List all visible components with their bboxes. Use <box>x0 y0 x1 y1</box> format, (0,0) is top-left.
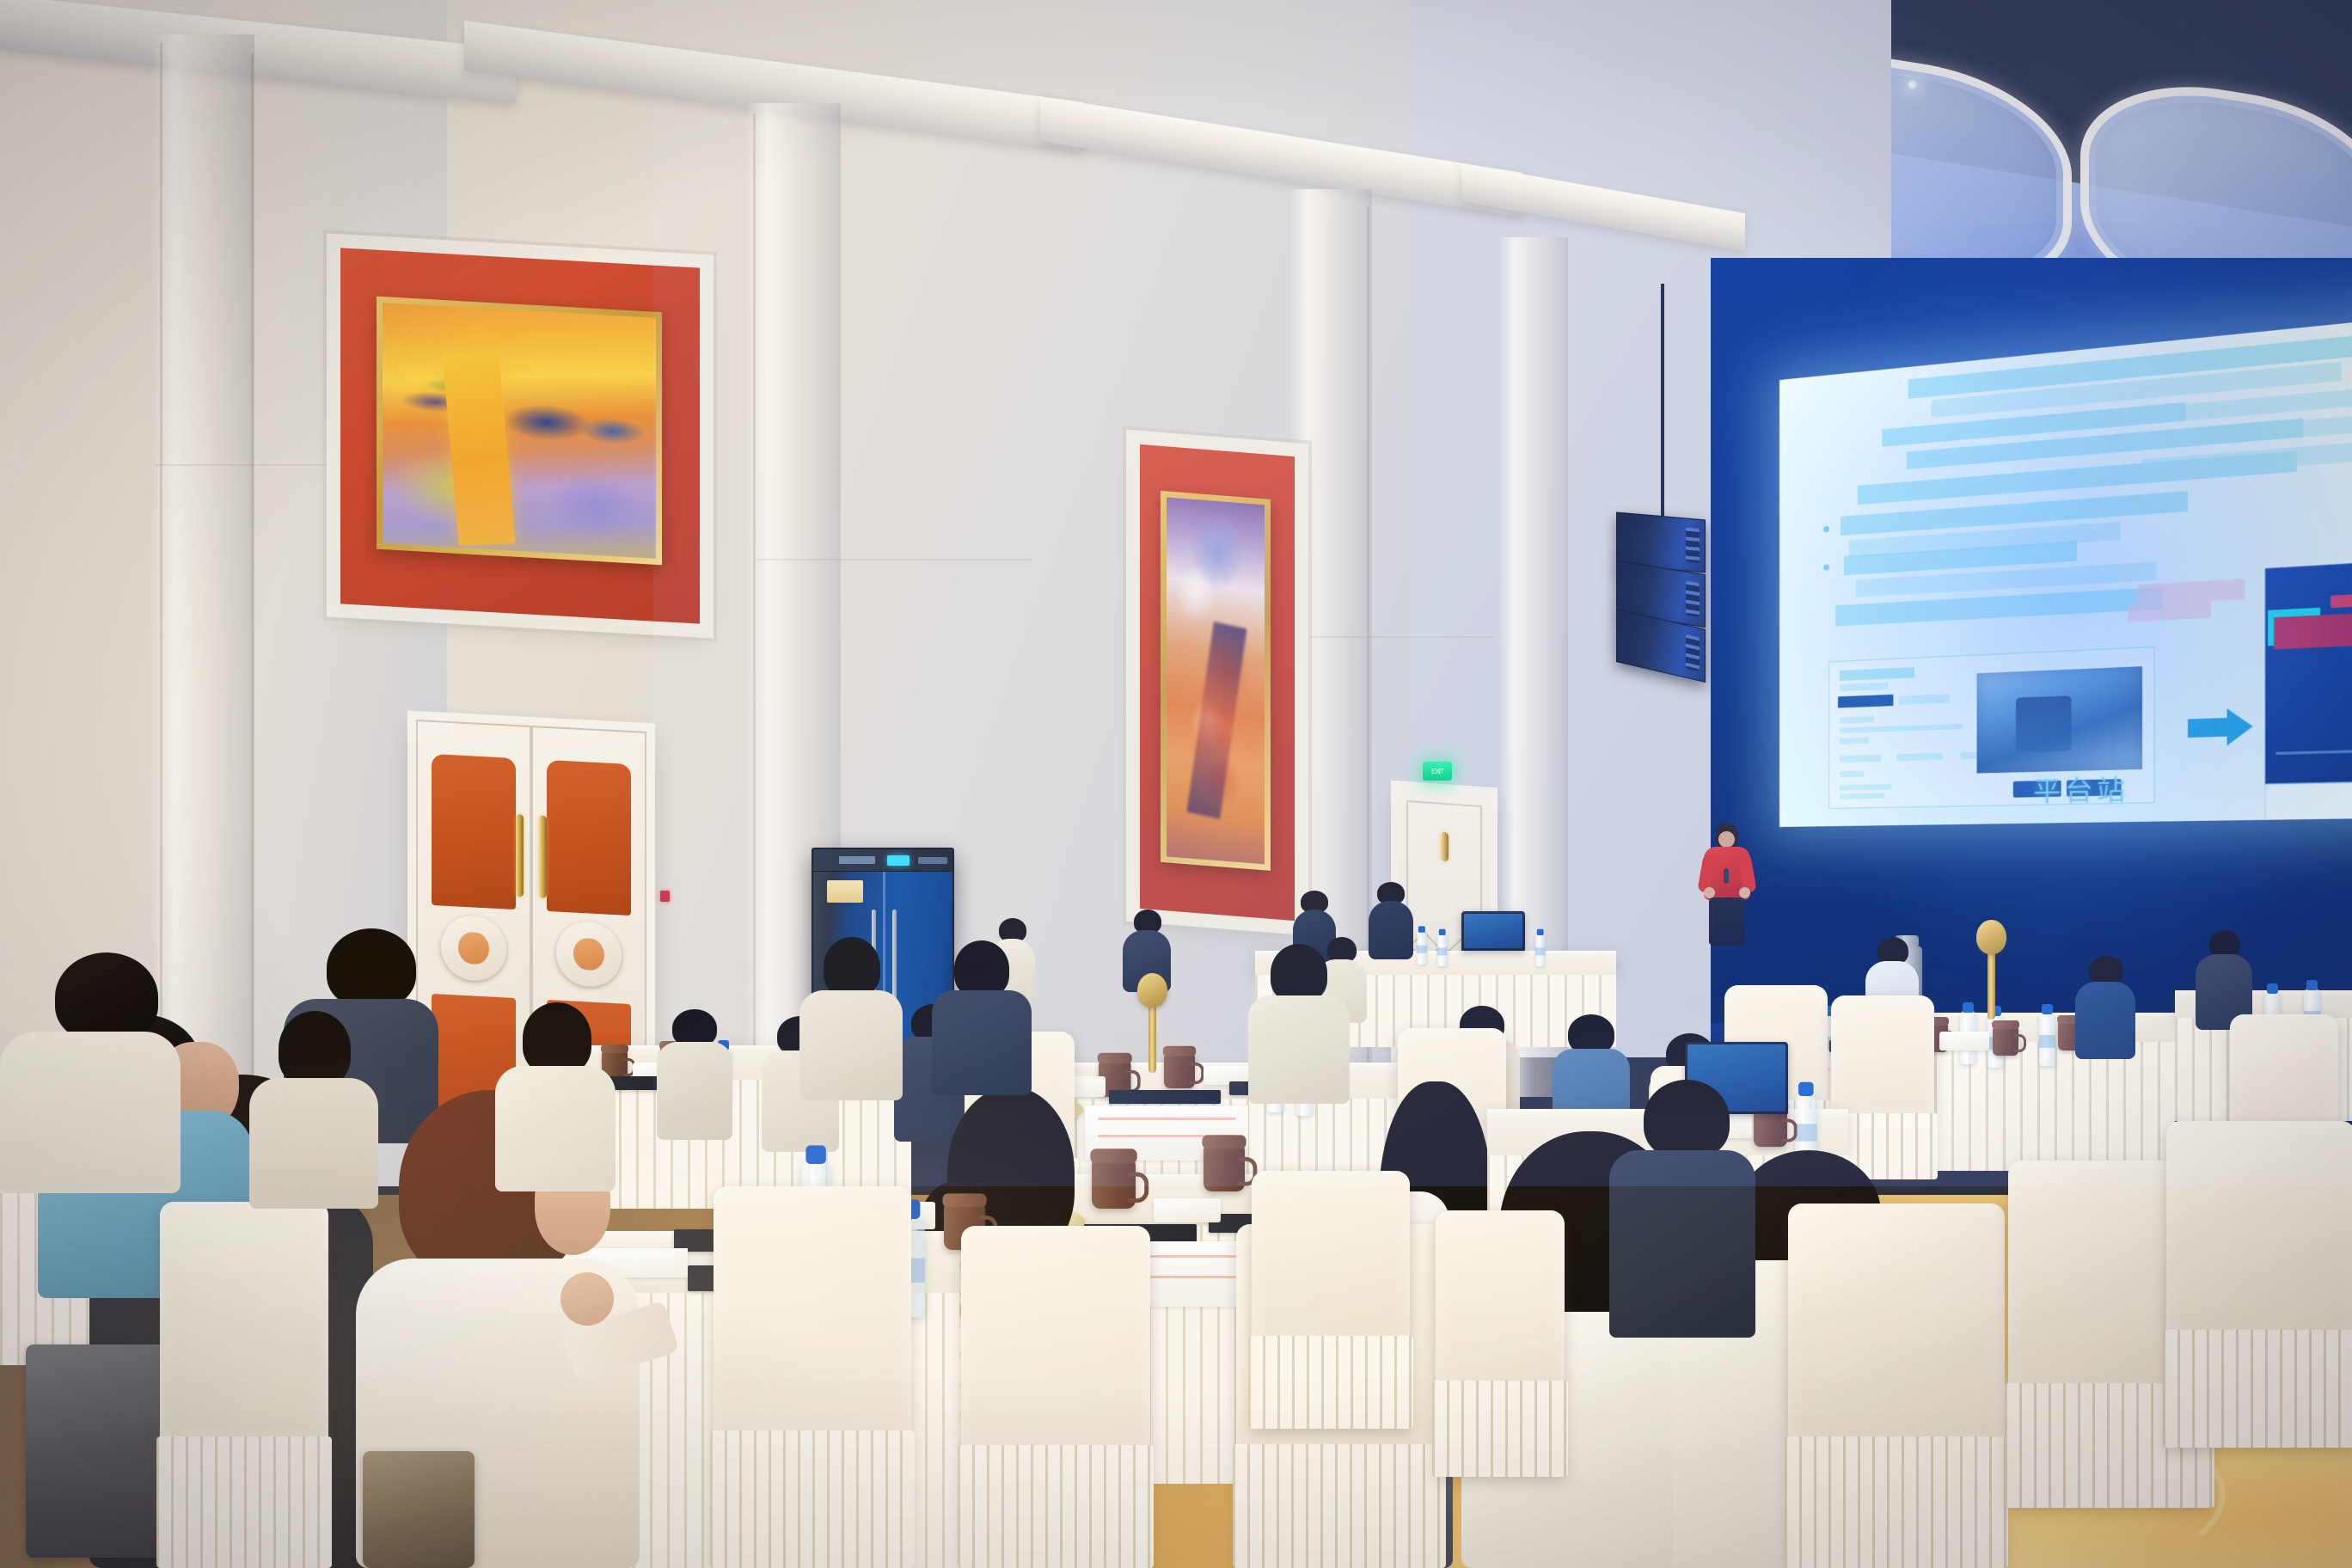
banquet-chair <box>1252 1171 1410 1429</box>
attendee-torso <box>2075 982 2135 1059</box>
attendee-hair <box>824 937 880 997</box>
line-array-speaker <box>1616 516 1706 688</box>
ballroom-conference-photo: EXIT <box>0 0 2352 1568</box>
pilaster-groove <box>753 113 756 1085</box>
fridge-energy-label <box>827 880 863 903</box>
attendee-top <box>932 990 1032 1095</box>
attendee-torso <box>1369 901 1413 959</box>
banquet-chair <box>961 1226 1150 1568</box>
attendee-top <box>0 1032 181 1193</box>
presenter <box>1700 824 1754 944</box>
attendee <box>495 1002 616 1191</box>
water-bottle <box>1535 934 1545 966</box>
attendee-hand <box>560 1272 614 1326</box>
attendee-torso <box>657 1042 732 1140</box>
attendee-dark-top <box>1609 1080 1755 1338</box>
fridge-brand-mark <box>839 856 875 864</box>
door-panel <box>432 754 517 910</box>
water-bottle <box>1437 934 1447 966</box>
attendee <box>1248 944 1350 1104</box>
presenter-trousers <box>1709 897 1745 946</box>
banquet-chair <box>1788 1204 2005 1568</box>
handbag <box>363 1451 475 1568</box>
slide-bullet <box>1823 564 1829 571</box>
app-divider <box>2275 749 2352 755</box>
attendee-cream-top <box>0 952 181 1193</box>
door-medallion <box>441 914 505 982</box>
app-badge <box>2331 593 2352 608</box>
attendee <box>657 1009 732 1140</box>
art-recess-panel-2 <box>1140 444 1295 921</box>
attendee <box>2075 956 2135 1059</box>
attendee-hair <box>954 940 1009 997</box>
attendee <box>799 937 903 1100</box>
door-handle[interactable] <box>539 816 547 898</box>
door-panel <box>547 760 632 916</box>
attendee-top <box>1248 995 1350 1104</box>
ceramic-teacup <box>1754 1109 1787 1147</box>
door-handle[interactable] <box>516 814 524 897</box>
slide-mobile-app-mockup <box>2264 559 2352 784</box>
water-bottle <box>1417 932 1427 965</box>
art-recess-panel-1 <box>340 248 700 623</box>
gold-table-number <box>1148 1002 1156 1073</box>
app-banner <box>2274 610 2352 649</box>
speaker-suspension-wire <box>1661 284 1664 524</box>
projection-screen: 平台站 <box>1779 315 2352 827</box>
exit-sign: EXIT <box>1423 762 1452 781</box>
fire-alarm-indicator <box>660 891 670 902</box>
exit-sign-label: EXIT <box>1431 768 1443 775</box>
abstract-figure-painting <box>1167 497 1265 864</box>
attendee <box>932 940 1032 1095</box>
attendee-hair <box>55 952 158 1042</box>
attendee-hair <box>1644 1080 1730 1159</box>
slide-caption: 平台站 <box>2033 767 2128 809</box>
attendee-top <box>249 1078 378 1209</box>
folded-napkin <box>1939 1032 1989 1050</box>
ceramic-teacup <box>1164 1053 1195 1088</box>
attendee-hair <box>2089 956 2123 985</box>
laptop[interactable] <box>1461 911 1525 951</box>
attendee-hair <box>279 1011 351 1087</box>
attendee <box>249 1011 378 1209</box>
wall-seam <box>756 559 1032 560</box>
banquet-chair <box>2166 1121 2352 1448</box>
pilaster-groove <box>251 53 254 1162</box>
painting-frame-2 <box>1161 491 1271 871</box>
water-bottle <box>2039 1013 2055 1066</box>
slide-bullet <box>1823 526 1829 533</box>
door-medallion <box>556 920 621 988</box>
ceiling-downlight <box>1907 79 1918 90</box>
attendee-top <box>799 990 903 1100</box>
attendee-hair <box>523 1002 591 1075</box>
handheld-microphone <box>1724 868 1729 884</box>
fridge-model-mark <box>918 857 947 864</box>
ceramic-teacup <box>1204 1145 1245 1191</box>
wall-seam <box>1296 636 1494 638</box>
painting-frame-1 <box>377 297 662 566</box>
banquet-chair <box>1436 1210 1565 1477</box>
attendee-top <box>1609 1150 1755 1338</box>
banquet-chair <box>714 1186 911 1568</box>
attendee-hair <box>327 928 416 1008</box>
gold-table-number <box>1988 949 1995 1020</box>
banquet-chair <box>160 1202 328 1568</box>
fridge-display <box>887 855 910 866</box>
slide-embedded-photo <box>1977 666 2143 773</box>
attendee-top <box>495 1066 616 1191</box>
attendee-hair <box>1271 944 1327 1002</box>
door-handle[interactable] <box>1441 832 1449 862</box>
abstract-landscape-painting <box>383 303 656 559</box>
attendee <box>1369 882 1413 959</box>
ceramic-teacup <box>1993 1026 2018 1056</box>
folded-napkin <box>1154 1198 1221 1222</box>
presenter-face <box>1718 831 1735 848</box>
